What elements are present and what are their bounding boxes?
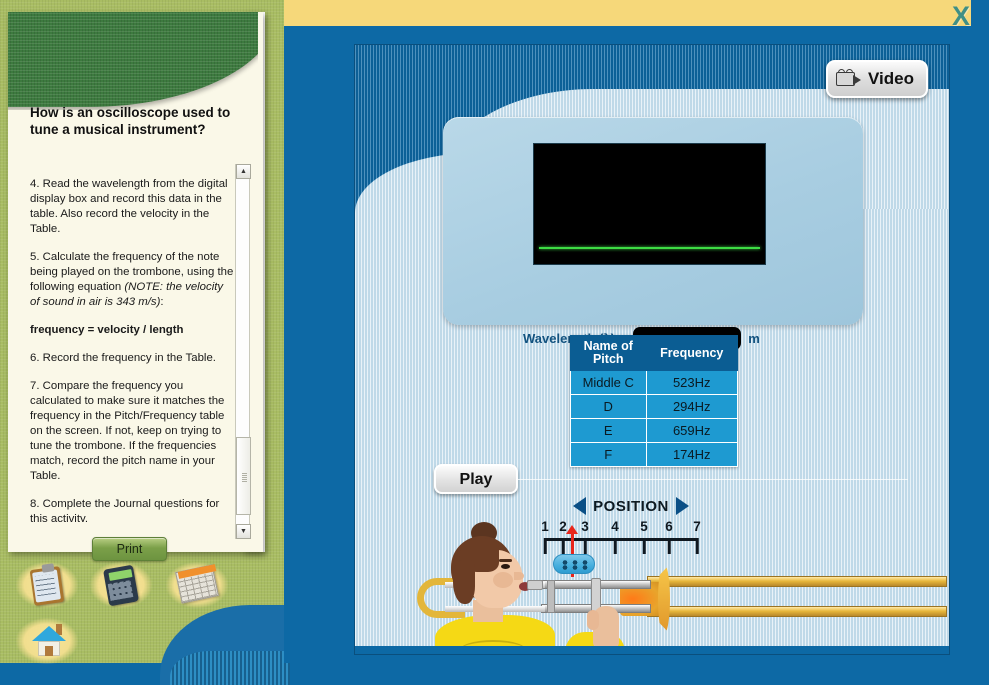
print-button[interactable]: Print — [92, 537, 167, 561]
journal-tool-button[interactable] — [16, 562, 78, 608]
slider-grip-dots — [560, 560, 590, 570]
simulation-stage: Video Wavelength (λ) = m Name of Pitch F… — [354, 44, 950, 655]
table-row: Middle C 523Hz — [571, 371, 738, 395]
table-row: D 294Hz — [571, 395, 738, 419]
position-right-arrow-icon[interactable] — [676, 497, 689, 515]
instruction-step-4: 4. Read the wavelength from the digital … — [30, 177, 235, 237]
cell-pitch: Middle C — [571, 371, 647, 395]
wavelength-unit: m — [748, 331, 760, 346]
pitch-frequency-table: Name of Pitch Frequency Middle C 523Hz D… — [570, 335, 738, 467]
cell-frequency: 659Hz — [646, 419, 738, 443]
right-blue-border — [971, 0, 989, 685]
scroll-up-icon[interactable]: ▲ — [236, 164, 251, 179]
play-button[interactable]: Play — [434, 464, 518, 494]
video-button-label: Video — [868, 69, 914, 89]
player-eye — [501, 564, 510, 569]
position-slider-handle[interactable] — [553, 554, 595, 574]
scrollbar-thumb[interactable] — [236, 437, 251, 515]
instructions-scrollbar[interactable]: ▲ ▼ — [235, 164, 250, 539]
oscilloscope-trace — [539, 247, 760, 249]
camcorder-icon — [836, 69, 862, 89]
table-row: F 174Hz — [571, 443, 738, 467]
cell-frequency: 294Hz — [646, 395, 738, 419]
column-header-frequency: Frequency — [646, 336, 738, 371]
cell-frequency: 523Hz — [646, 371, 738, 395]
position-control: POSITION — [561, 495, 701, 517]
table-header-row: Name of Pitch Frequency — [571, 336, 738, 371]
calculator-tool-button[interactable] — [90, 562, 152, 608]
video-button[interactable]: Video — [826, 60, 928, 98]
home-icon — [32, 626, 66, 641]
page-title: How is an oscilloscope used to tune a mu… — [30, 104, 242, 138]
column-header-pitch: Name of Pitch — [571, 336, 647, 371]
instructions-panel: How is an oscilloscope used to tune a mu… — [8, 12, 263, 552]
instruction-step-7: 7. Compare the frequency you calculated … — [30, 379, 235, 484]
data-table-tool-button[interactable] — [166, 562, 228, 608]
instruction-step-6: 6. Record the frequency in the Table. — [30, 351, 235, 366]
home-tool-button[interactable] — [16, 618, 78, 664]
scroll-down-icon[interactable]: ▼ — [236, 524, 251, 539]
cell-frequency: 174Hz — [646, 443, 738, 467]
instruction-step-5: 5. Calculate the frequency of the note b… — [30, 250, 235, 310]
position-left-arrow-icon[interactable] — [573, 497, 586, 515]
frequency-equation: frequency = velocity / length — [30, 323, 235, 338]
bottom-blue-border — [0, 663, 989, 685]
application-window: X How is an oscilloscope used to tune a … — [0, 0, 989, 685]
cell-pitch: D — [571, 395, 647, 419]
decorative-wave-texture — [170, 651, 290, 685]
trombone-mouthpiece — [527, 580, 543, 590]
instruction-step-8: 8. Complete the Journal questions for th… — [30, 497, 235, 522]
cell-pitch: F — [571, 443, 647, 467]
cell-pitch: E — [571, 419, 647, 443]
header-swoosh — [8, 12, 258, 110]
position-label: POSITION — [593, 498, 669, 515]
instructions-text: 4. Read the wavelength from the digital … — [30, 177, 235, 522]
divider-line — [518, 479, 908, 480]
trombone-player-illustration — [415, 520, 950, 655]
table-row: E 659Hz — [571, 419, 738, 443]
